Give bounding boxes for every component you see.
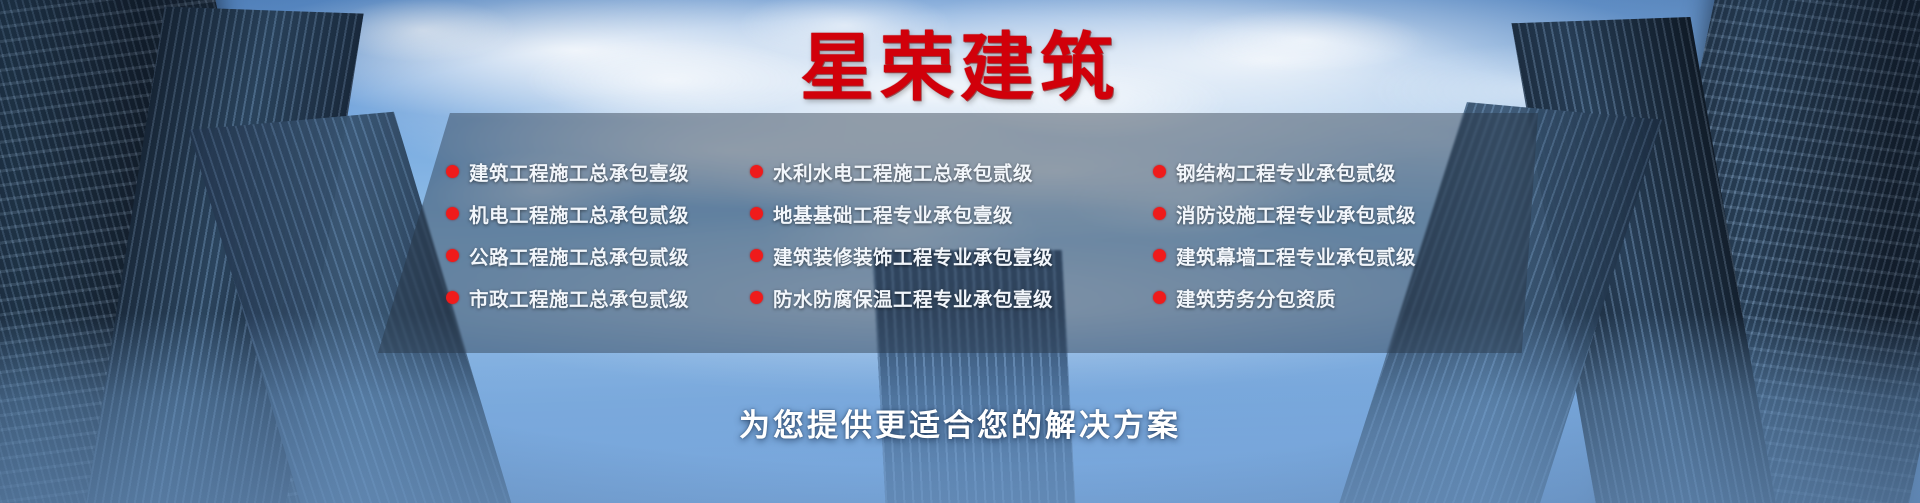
qualification-label: 地基基础工程专业承包壹级: [773, 199, 1013, 228]
qualification-label: 防水防腐保温工程专业承包壹级: [773, 283, 1053, 312]
qualification-label: 建筑装修装饰工程专业承包壹级: [773, 241, 1053, 270]
red-dot-icon: [1153, 165, 1166, 178]
qualification-label: 钢结构工程专业承包贰级: [1176, 157, 1396, 186]
qualification-label: 建筑劳务分包资质: [1176, 283, 1336, 312]
list-item[interactable]: 建筑劳务分包资质: [1153, 282, 1538, 313]
hero-banner: 星荣建筑 建筑工程施工总承包壹级 机电工程施工总承包贰级 公路工程施工总承包贰级: [0, 0, 1920, 503]
qualification-label: 建筑工程施工总承包壹级: [469, 157, 689, 186]
qualification-label: 公路工程施工总承包贰级: [469, 241, 689, 270]
red-dot-icon: [446, 291, 459, 304]
qualification-label: 市政工程施工总承包贰级: [469, 283, 689, 312]
list-item[interactable]: 市政工程施工总承包贰级: [446, 282, 740, 313]
qualifications-panel: 建筑工程施工总承包壹级 机电工程施工总承包贰级 公路工程施工总承包贰级 市政工程…: [378, 113, 1538, 353]
red-dot-icon: [750, 207, 763, 220]
list-item[interactable]: 防水防腐保温工程专业承包壹级: [750, 282, 1139, 313]
list-item[interactable]: 钢结构工程专业承包贰级: [1153, 156, 1538, 187]
list-item[interactable]: 建筑装修装饰工程专业承包壹级: [750, 240, 1139, 271]
list-item[interactable]: 建筑幕墙工程专业承包贰级: [1153, 240, 1538, 271]
tagline-text: 为您提供更适合您的解决方案: [739, 400, 1181, 445]
red-dot-icon: [1153, 249, 1166, 262]
red-dot-icon: [750, 165, 763, 178]
banner-title: 星荣建筑: [0, 30, 1920, 108]
company-name: 星荣建筑: [800, 30, 1120, 108]
red-dot-icon: [1153, 291, 1166, 304]
qualification-label: 消防设施工程专业承包贰级: [1176, 199, 1416, 228]
qualification-column-3: 钢结构工程专业承包贰级 消防设施工程专业承包贰级 建筑幕墙工程专业承包贰级 建筑…: [1153, 156, 1538, 313]
list-item[interactable]: 机电工程施工总承包贰级: [446, 198, 740, 229]
banner-tagline: 为您提供更适合您的解决方案: [0, 400, 1920, 445]
qualification-column-2: 水利水电工程施工总承包贰级 地基基础工程专业承包壹级 建筑装修装饰工程专业承包壹…: [750, 156, 1139, 313]
qualification-label: 水利水电工程施工总承包贰级: [773, 157, 1033, 186]
qualification-label: 机电工程施工总承包贰级: [469, 199, 689, 228]
list-item[interactable]: 地基基础工程专业承包壹级: [750, 198, 1139, 229]
red-dot-icon: [750, 291, 763, 304]
qualification-column-1: 建筑工程施工总承包壹级 机电工程施工总承包贰级 公路工程施工总承包贰级 市政工程…: [446, 156, 740, 313]
list-item[interactable]: 建筑工程施工总承包壹级: [446, 156, 740, 187]
red-dot-icon: [446, 249, 459, 262]
list-item[interactable]: 水利水电工程施工总承包贰级: [750, 156, 1139, 187]
qualification-label: 建筑幕墙工程专业承包贰级: [1176, 241, 1416, 270]
list-item[interactable]: 公路工程施工总承包贰级: [446, 240, 740, 271]
qualifications-grid: 建筑工程施工总承包壹级 机电工程施工总承包贰级 公路工程施工总承包贰级 市政工程…: [378, 113, 1538, 353]
red-dot-icon: [1153, 207, 1166, 220]
list-item[interactable]: 消防设施工程专业承包贰级: [1153, 198, 1538, 229]
red-dot-icon: [446, 207, 459, 220]
red-dot-icon: [446, 165, 459, 178]
red-dot-icon: [750, 249, 763, 262]
